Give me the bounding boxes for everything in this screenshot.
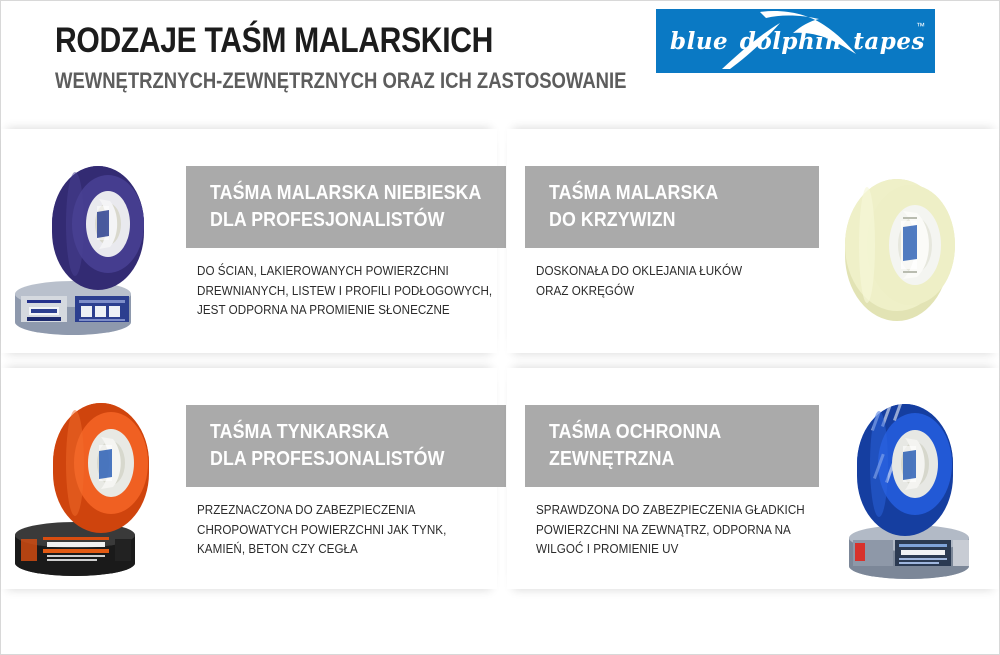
card-heading-band-outdoor-protective: TAŚMA OCHRONNA ZEWNĘTRZNA [525, 405, 819, 487]
card-body-line3: JEST ODPORNA NA PROMIENIE SŁONECZNE [197, 301, 492, 321]
card-heading-line2: DO KRZYWIZN [549, 207, 789, 234]
card-heading-band-plaster-professional: TAŚMA TYNKARSKA DLA PROFESJONALISTÓW [186, 405, 506, 487]
product-card-blue-professional[interactable]: TAŚMA MALARSKA NIEBIESKA DLA PROFESJONAL… [1, 129, 497, 353]
card-body-line3: KAMIEŃ, BETON CZY CEGŁA [197, 540, 446, 560]
card-heading-line2: ZEWNĘTRZNA [549, 446, 789, 473]
card-body-line2: DREWNIANYCH, LISTEW I PROFILI PODŁOGOWYC… [197, 282, 492, 302]
card-heading-line1: TAŚMA MALARSKA NIEBIESKA [210, 180, 473, 207]
card-heading-line1: TAŚMA TYNKARSKA [210, 419, 473, 446]
orange-plaster-tape-rolls-image [13, 383, 183, 578]
product-card-curves[interactable]: TAŚMA MALARSKA DO KRZYWIZN DOSKONAŁA DO … [507, 129, 999, 353]
brand-logo[interactable]: blue dolphin tapes ™ [656, 9, 935, 73]
card-body-outdoor-protective: SPRAWDZONA DO ZABEZPIECZENIA GŁADKICH PO… [536, 501, 805, 560]
product-card-outdoor-protective[interactable]: TAŚMA OCHRONNA ZEWNĘTRZNA SPRAWDZONA DO … [507, 368, 999, 589]
blue-masking-tape-rolls-image [13, 144, 183, 339]
card-heading-band-curves: TAŚMA MALARSKA DO KRZYWIZN [525, 166, 819, 248]
card-heading-line2: DLA PROFESJONALISTÓW [210, 446, 473, 473]
page-title: RODZAJE TAŚM MALARSKICH [55, 23, 640, 60]
dolphin-icon [656, 9, 935, 73]
card-body-line2: POWIERZCHNI NA ZEWNĄTRZ, ODPORNA NA [536, 521, 805, 541]
blue-outdoor-tape-rolls-image [823, 386, 993, 581]
card-body-plaster-professional: PRZEZNACZONA DO ZABEZPIECZENIA CHROPOWAT… [197, 501, 446, 560]
page-subtitle: WEWNĘTRZNYCH-ZEWNĘTRZNYCH ORAZ ICH ZASTO… [55, 69, 626, 92]
card-body-blue-professional: DO ŚCIAN, LAKIEROWANYCH POWIERZCHNI DREW… [197, 262, 492, 321]
product-card-plaster-professional[interactable]: TAŚMA TYNKARSKA DLA PROFESJONALISTÓW PRZ… [1, 368, 497, 589]
title-block: RODZAJE TAŚM MALARSKICH WEWNĘTRZNYCH-ZEW… [55, 23, 735, 92]
card-body-line3: WILGOĆ I PROMIENIE UV [536, 540, 805, 560]
card-heading-line2: DLA PROFESJONALISTÓW [210, 207, 473, 234]
card-body-curves: DOSKONAŁA DO OKLEJANIA ŁUKÓW ORAZ OKRĘGÓ… [536, 262, 742, 301]
card-body-line2: CHROPOWATYCH POWIERZCHNI JAK TYNK, [197, 521, 446, 541]
card-body-line1: DO ŚCIAN, LAKIEROWANYCH POWIERZCHNI [197, 262, 492, 282]
page-header: RODZAJE TAŚM MALARSKICH WEWNĘTRZNYCH-ZEW… [1, 1, 999, 119]
card-body-line1: SPRAWDZONA DO ZABEZPIECZENIA GŁADKICH [536, 501, 805, 521]
card-heading-band-blue-professional: TAŚMA MALARSKA NIEBIESKA DLA PROFESJONAL… [186, 166, 506, 248]
card-heading-line1: TAŚMA MALARSKA [549, 180, 789, 207]
card-body-line1: DOSKONAŁA DO OKLEJANIA ŁUKÓW [536, 262, 742, 282]
card-body-line1: PRZEZNACZONA DO ZABEZPIECZENIA [197, 501, 446, 521]
card-heading-line1: TAŚMA OCHRONNA [549, 419, 789, 446]
trademark-icon: ™ [916, 21, 925, 31]
card-body-line2: ORAZ OKRĘGÓW [536, 282, 742, 302]
cream-masking-tape-roll-image [823, 147, 993, 342]
card-grid: TAŚMA MALARSKA NIEBIESKA DLA PROFESJONAL… [1, 129, 999, 589]
